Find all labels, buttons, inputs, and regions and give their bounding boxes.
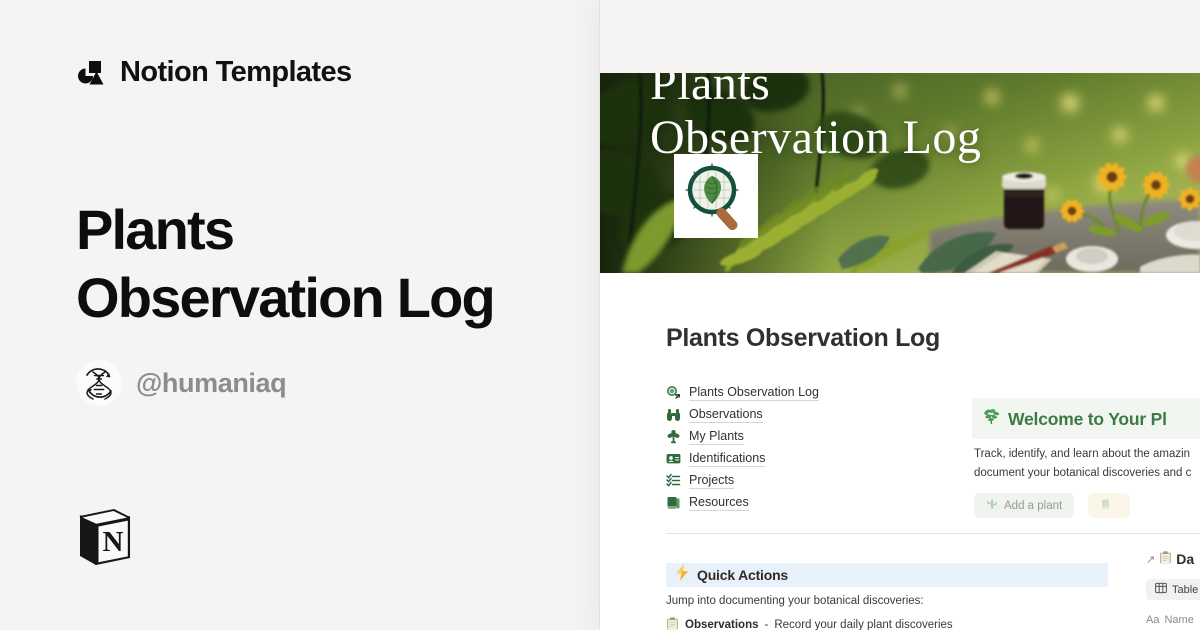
database-column-header-name[interactable]: Aa Name: [1146, 614, 1200, 626]
brand: Notion Templates: [76, 56, 352, 89]
page-title: Plants Observation Log: [76, 196, 596, 333]
quick-actions-heading: Quick Actions: [666, 563, 1108, 587]
database-title-row[interactable]: ↗ Da: [1146, 551, 1200, 567]
section-divider: [666, 533, 1200, 534]
welcome-callout: Welcome to Your Pl Track, identify, and …: [972, 398, 1200, 518]
text-property-icon: Aa: [1146, 614, 1159, 626]
callout-paragraph-line-1: Track, identify, and learn about the ama…: [974, 445, 1200, 464]
magnifying-glass-leaf-icon: [674, 154, 758, 238]
database-title: Da: [1176, 551, 1194, 567]
left-panel: Notion Templates Plants Observation Log: [0, 0, 600, 630]
database-view-tab-table[interactable]: Table: [1146, 579, 1200, 600]
database-column-label: Name: [1164, 614, 1193, 626]
nav-item-label: Projects: [689, 472, 734, 489]
share-card: Notion Templates Plants Observation Log: [0, 0, 1200, 630]
database-block: ↗ Da Table: [1146, 551, 1200, 626]
headline-line-1: Plants: [76, 198, 233, 261]
secondary-button[interactable]: [1088, 493, 1130, 518]
brand-name: Notion Templates: [120, 56, 352, 89]
author-handle: @humaniaq: [136, 368, 286, 399]
nav-item-label: Identifications: [689, 450, 765, 467]
herb-leaf-icon: [982, 407, 1001, 431]
nav-item-label: My Plants: [689, 428, 744, 445]
quick-action-desc: Record your daily plant discoveries: [774, 619, 952, 630]
cover-title: Plants Observation Log: [650, 73, 1120, 165]
database-view-label: Table: [1172, 584, 1198, 596]
notion-templates-logo-icon: [76, 58, 106, 88]
quick-actions-title: Quick Actions: [697, 567, 788, 583]
link-arrow-icon: ↗: [1146, 553, 1155, 566]
books-icon: [666, 495, 681, 510]
clipboard-icon: [1159, 551, 1172, 567]
nav-item-resources[interactable]: Resources: [666, 491, 966, 513]
nav-item-identifications[interactable]: Identifications: [666, 447, 966, 469]
seedling-icon: [666, 429, 681, 444]
checklist-icon: [666, 473, 681, 488]
quick-actions-subtitle: Jump into documenting your botanical dis…: [666, 595, 924, 607]
add-a-plant-button[interactable]: Add a plant: [974, 493, 1074, 518]
id-card-icon: [666, 451, 681, 466]
nav-item-label: Plants Observation Log: [689, 384, 819, 401]
table-icon: [1155, 582, 1167, 597]
svg-text:N: N: [103, 526, 124, 558]
add-a-plant-label: Add a plant: [1004, 500, 1062, 512]
cactus-icon: [986, 498, 998, 513]
preview-top-gap: [600, 0, 1200, 73]
quick-action-dash: -: [765, 619, 769, 630]
callout-title: Welcome to Your Pl: [1008, 409, 1167, 430]
avatar: [76, 360, 122, 406]
clipboard-icon: [666, 617, 679, 630]
callout-buttons: Add a plant: [974, 493, 1200, 518]
callout-paragraph-line-2: document your botanical discoveries and …: [974, 464, 1200, 483]
notion-cube-logo-icon: N: [76, 506, 134, 568]
binoculars-icon: [666, 407, 681, 422]
callout-body: Track, identify, and learn about the ama…: [972, 439, 1200, 518]
quick-action-name: Observations: [685, 619, 759, 630]
cover-title-line-1: Plants: [650, 73, 1120, 111]
nav-item-plants-observation-log[interactable]: Plants Observation Log: [666, 381, 966, 403]
callout-header: Welcome to Your Pl: [972, 407, 1200, 439]
nav-item-observations[interactable]: Observations: [666, 403, 966, 425]
quick-action-item[interactable]: Observations - Record your daily plant d…: [666, 617, 953, 630]
nav-item-label: Observations: [689, 406, 763, 423]
book-icon: [1100, 498, 1112, 513]
nav-item-my-plants[interactable]: My Plants: [666, 425, 966, 447]
nav-item-label: Resources: [689, 494, 749, 511]
nav-list: Plants Observation Log Observations: [666, 381, 966, 513]
preview-page-title: Plants Observation Log: [666, 324, 940, 353]
magnifier-arrow-icon: [666, 385, 681, 400]
lightning-icon: [675, 564, 690, 586]
notion-page-preview: Plants Observation Log: [600, 0, 1200, 630]
headline-line-2: Observation Log: [76, 266, 494, 329]
author[interactable]: @humaniaq: [76, 360, 286, 406]
nav-item-projects[interactable]: Projects: [666, 469, 966, 491]
